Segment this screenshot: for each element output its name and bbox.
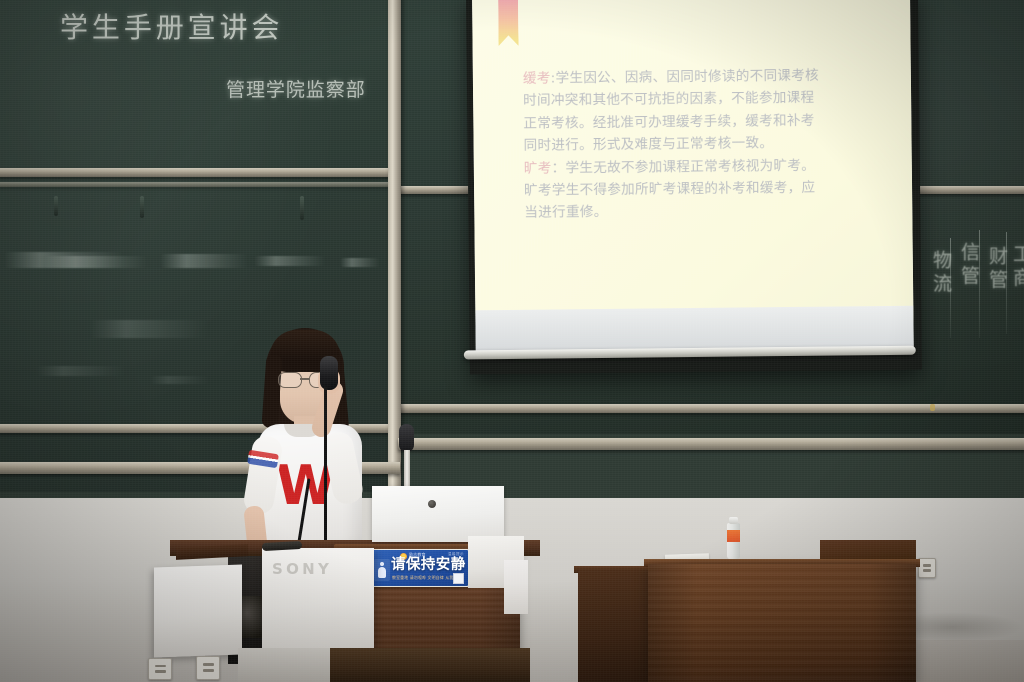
chalkboard-column-rule <box>979 230 980 338</box>
glasses-lens-left <box>278 372 302 388</box>
chalkboard-subtitle: 管理学院监察部 <box>226 75 366 102</box>
open-drawer-panel[interactable] <box>154 564 242 657</box>
chalk-smear <box>340 258 380 267</box>
glasses-bridge <box>300 378 309 380</box>
chalk-smear <box>90 320 210 338</box>
board-hook <box>54 196 58 216</box>
projector-screen: 缓考:学生因公、因病、因同时修读的不同课考核 时间冲突和其他不可抗拒的因素，不能… <box>466 0 922 374</box>
chalk-smear <box>44 256 148 268</box>
lectern-control-panel <box>372 486 504 542</box>
slide-line-text: 正常考核。经批准可办理缓考手续，缓考和补考 <box>523 113 814 132</box>
lectern-base-left <box>238 648 334 682</box>
slide-text-block: 缓考:学生因公、因病、因同时修读的不同课考核 时间冲突和其他不可抗拒的因素，不能… <box>523 64 885 225</box>
projector-screen-face: 缓考:学生因公、因病、因同时修读的不同课考核 时间冲突和其他不可抗拒的因素，不能… <box>472 0 914 354</box>
slide-line-text: 同时进行。形式及难度与正常考核一致。 <box>524 135 774 154</box>
slide-keyword: 缓考 <box>523 70 551 86</box>
microphone-icon <box>320 356 338 390</box>
board-hook <box>300 196 304 220</box>
chalkboard-ledge <box>398 438 1024 450</box>
chalkboard-column-gongshang: 工商 <box>1008 244 1024 290</box>
chalkboard-column-rule <box>950 238 951 338</box>
qr-code-icon <box>453 573 464 584</box>
chalkboard-rail <box>0 168 400 177</box>
slide-keyword: 旷考 <box>524 160 552 176</box>
lectern-knob[interactable] <box>428 500 436 508</box>
wall-outlet <box>918 558 936 578</box>
wall-outlet <box>196 656 220 680</box>
cabinet-brand-mark: SONY <box>272 560 364 580</box>
microphone-stand-icon <box>399 424 414 452</box>
slide-line-text: ：学生无故不参加课程正常考核视为旷考。 <box>551 157 815 176</box>
board-marker-clip <box>930 404 935 411</box>
chalkboard-rail <box>0 182 400 187</box>
board-hook <box>140 196 144 218</box>
slide-line-text: :学生因公、因病、因同时修读的不同课考核 <box>551 68 819 87</box>
chalkboard-divider-post <box>388 0 401 494</box>
wooden-desk <box>648 564 916 682</box>
slide-line-text: 时间冲突和其他不可抗拒的因素，不能参加课程 <box>523 90 814 109</box>
chalk-smear <box>36 366 126 376</box>
slide-ribbon-decoration <box>498 0 519 46</box>
speaker-person: W <box>240 328 380 568</box>
lectern-base <box>330 648 530 682</box>
quiet-sign: 励志教育 温馨提示 请保持安静 教室重地 请勿喧哗 文明自律 从我做起 <box>369 549 469 587</box>
chalkboard-column-rule <box>1006 232 1007 334</box>
slide-surface: 缓考:学生因公、因病、因同时修读的不同课考核 时间冲突和其他不可抗拒的因素，不能… <box>472 0 913 324</box>
sign-main-text: 请保持安静 <box>391 558 467 573</box>
desk-left-panel <box>578 570 652 682</box>
slide-line-text: 旷考学生不得参加所旷考课程的补考和缓考，应 <box>524 180 815 199</box>
chalk-smear <box>150 376 210 384</box>
chalk-smear <box>254 256 326 266</box>
water-bottle-cap <box>729 517 738 524</box>
person-silhouette-icon <box>374 559 390 581</box>
slide-line: 当进行重修。 <box>524 198 884 224</box>
wall-outlet <box>148 658 172 680</box>
water-bottle-label <box>727 530 740 542</box>
slide-line-text: 当进行重修。 <box>524 204 607 221</box>
microphone-stand-stem <box>404 450 410 488</box>
chalk-smear <box>160 254 248 268</box>
lectern-side-panel <box>504 560 528 614</box>
microphone-cable <box>324 386 327 566</box>
chalkboard-title: 学生手册宣讲会 <box>60 6 283 46</box>
classroom-photo-scene: 学生手册宣讲会 管理学院监察部 物流 信管 财管 工商 缓考:学生因公、因病、因… <box>0 0 1024 682</box>
